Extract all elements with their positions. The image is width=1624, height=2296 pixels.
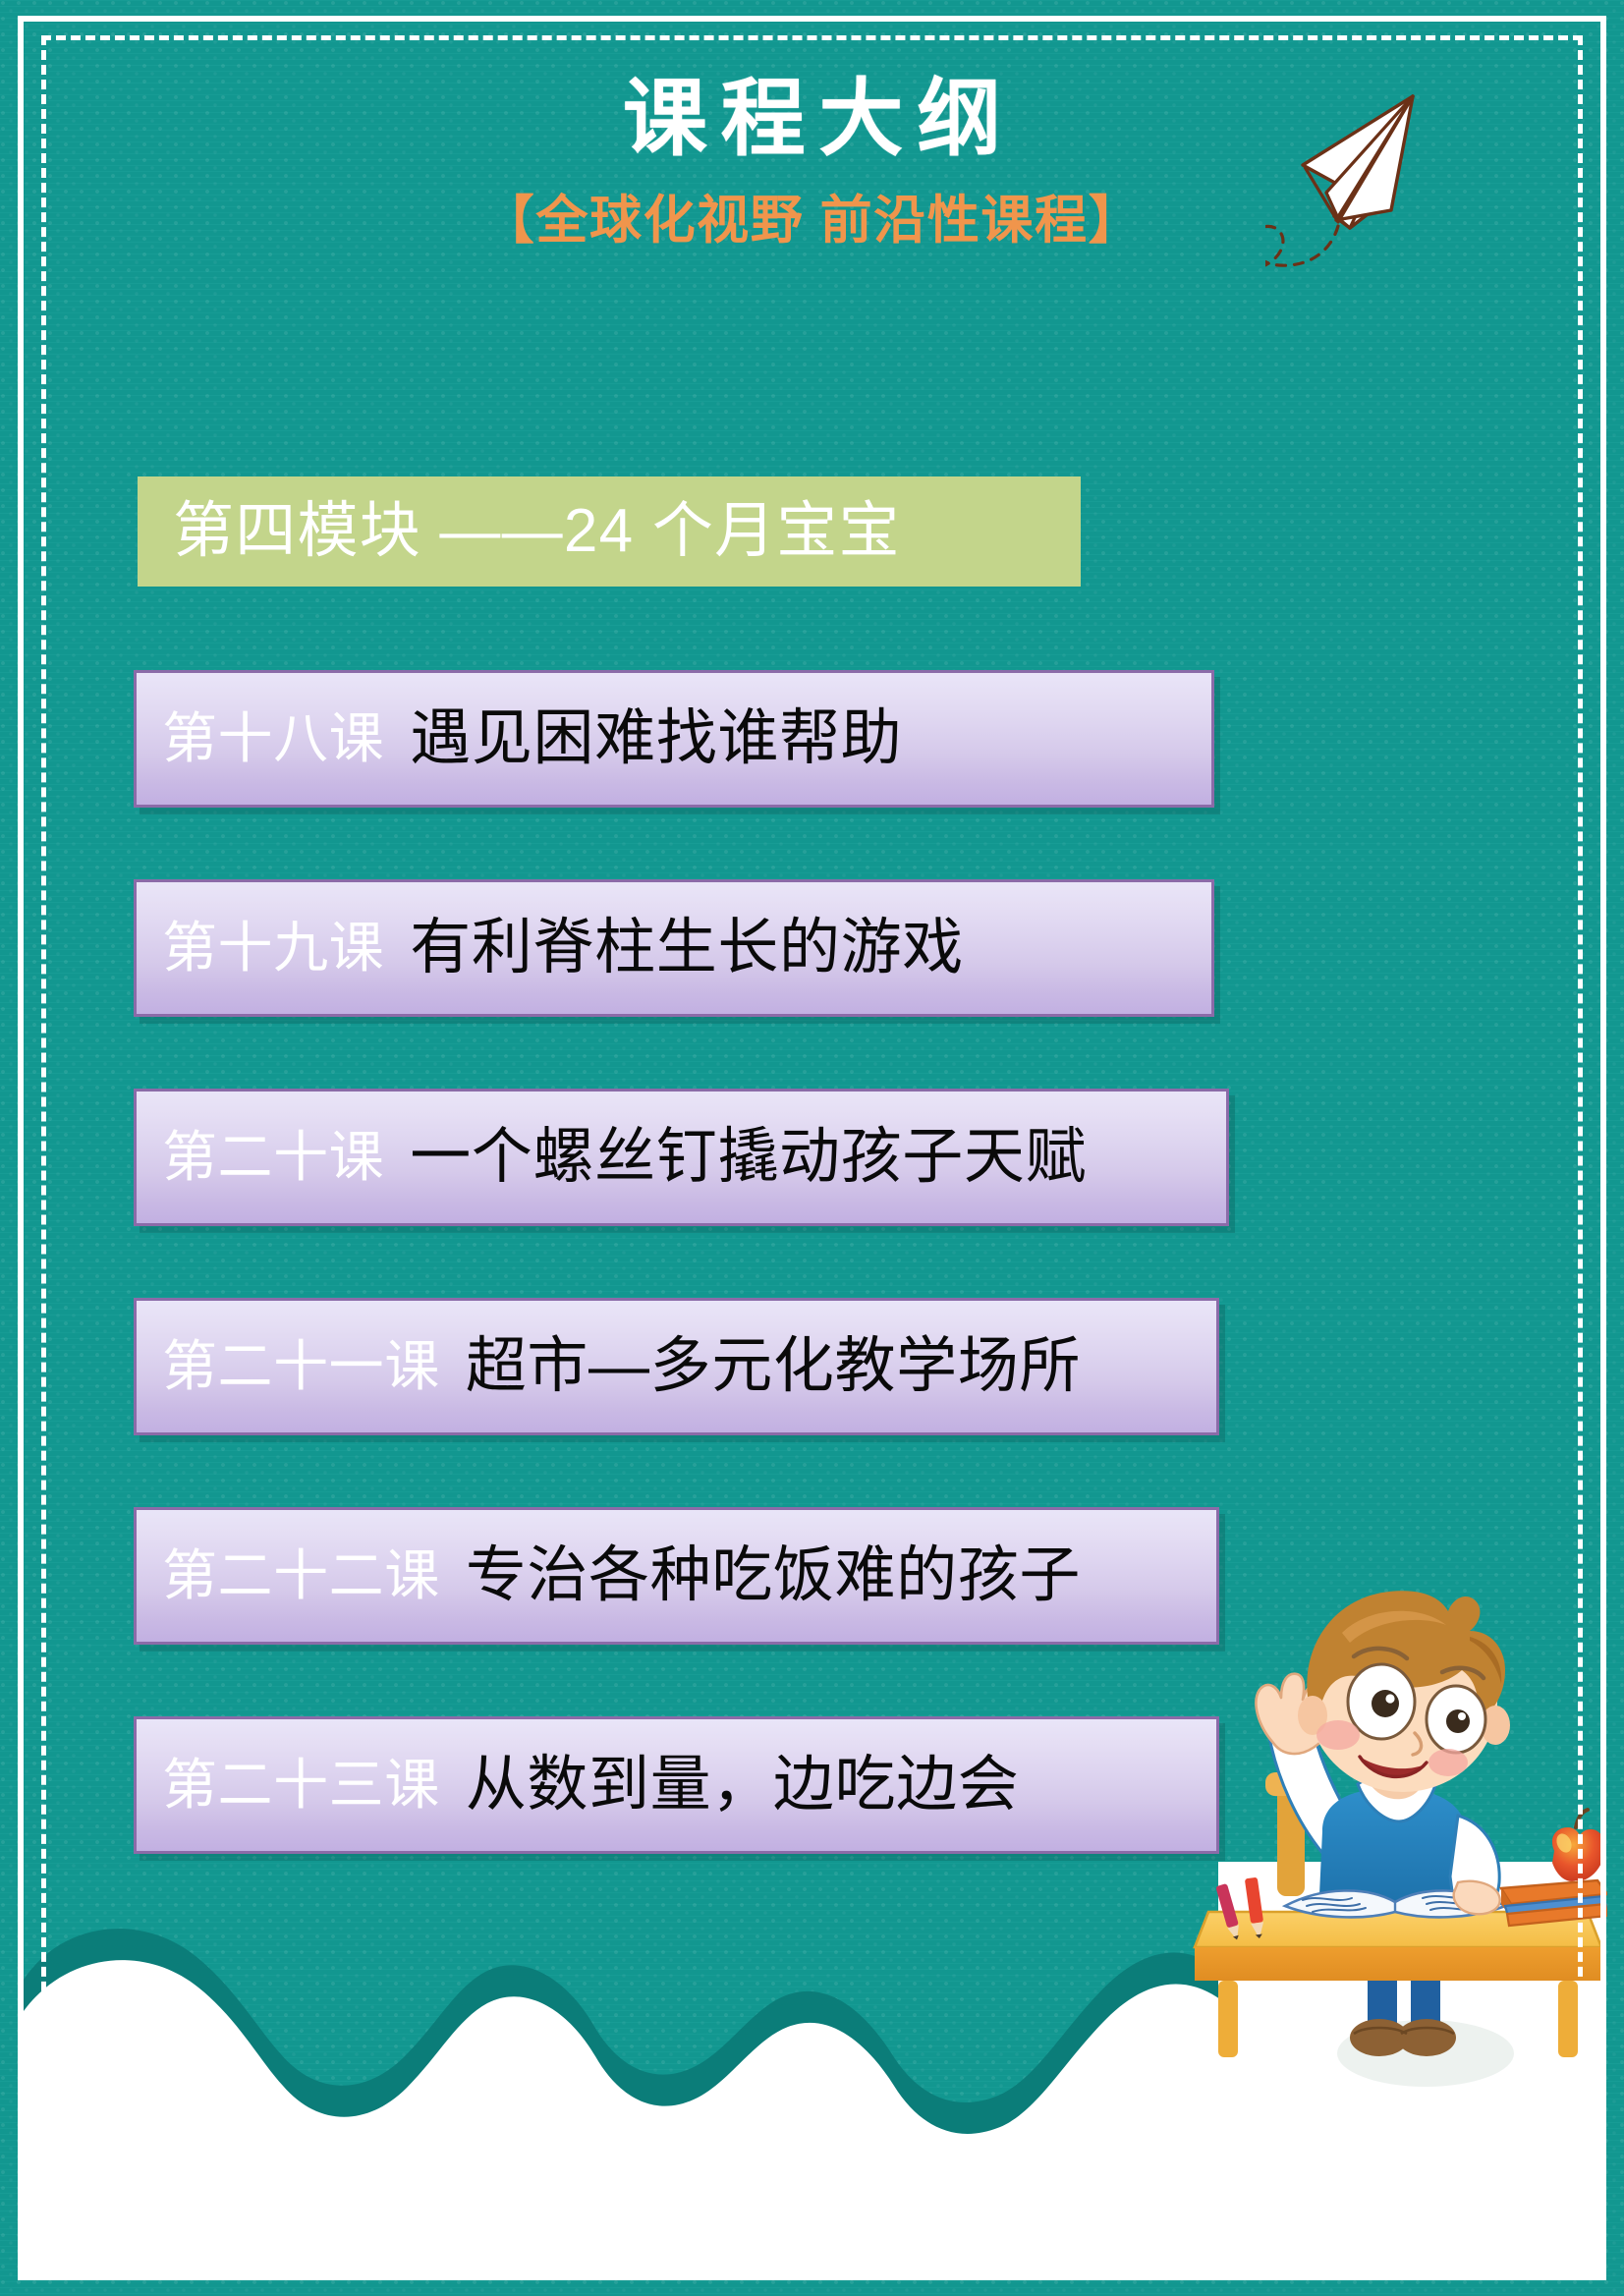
lesson-title: 从数到量，边吃边会 bbox=[466, 1755, 1020, 1816]
lesson-title: 有利脊柱生长的游戏 bbox=[410, 918, 964, 979]
lesson-number: 第二十三课 bbox=[162, 1758, 440, 1813]
lesson-number: 第十九课 bbox=[162, 921, 384, 976]
course-outline-poster: 课程大纲 【全球化视野 前沿性课程】 第四模块 ——24 个月宝宝 第十八课 遇… bbox=[0, 0, 1624, 2296]
lesson-row[interactable]: 第二十课 一个螺丝钉撬动孩子天赋 bbox=[134, 1089, 1229, 1226]
lesson-row[interactable]: 第十八课 遇见困难找谁帮助 bbox=[134, 670, 1214, 808]
lesson-number: 第二十二课 bbox=[162, 1548, 440, 1603]
lesson-row[interactable]: 第二十三课 从数到量，边吃边会 bbox=[134, 1716, 1219, 1854]
lesson-number: 第二十一课 bbox=[162, 1339, 440, 1394]
lesson-number: 第十八课 bbox=[162, 711, 384, 766]
module-label: 第四模块 ——24 个月宝宝 bbox=[138, 501, 901, 562]
module-header-bar: 第四模块 ——24 个月宝宝 bbox=[138, 476, 1081, 587]
lesson-title: 遇见困难找谁帮助 bbox=[410, 708, 902, 769]
lesson-title: 专治各种吃饭难的孩子 bbox=[466, 1545, 1081, 1606]
lesson-row[interactable]: 第二十一课 超市—多元化教学场所 bbox=[134, 1298, 1219, 1435]
lesson-row[interactable]: 第二十二课 专治各种吃饭难的孩子 bbox=[134, 1507, 1219, 1645]
lesson-number: 第二十课 bbox=[162, 1130, 384, 1185]
lesson-title: 超市—多元化教学场所 bbox=[466, 1336, 1081, 1397]
lesson-title: 一个螺丝钉撬动孩子天赋 bbox=[410, 1127, 1087, 1188]
lesson-list: 第十八课 遇见困难找谁帮助 第十九课 有利脊柱生长的游戏 第二十课 一个螺丝钉撬… bbox=[134, 670, 1214, 1926]
lesson-row[interactable]: 第十九课 有利脊柱生长的游戏 bbox=[134, 879, 1214, 1017]
